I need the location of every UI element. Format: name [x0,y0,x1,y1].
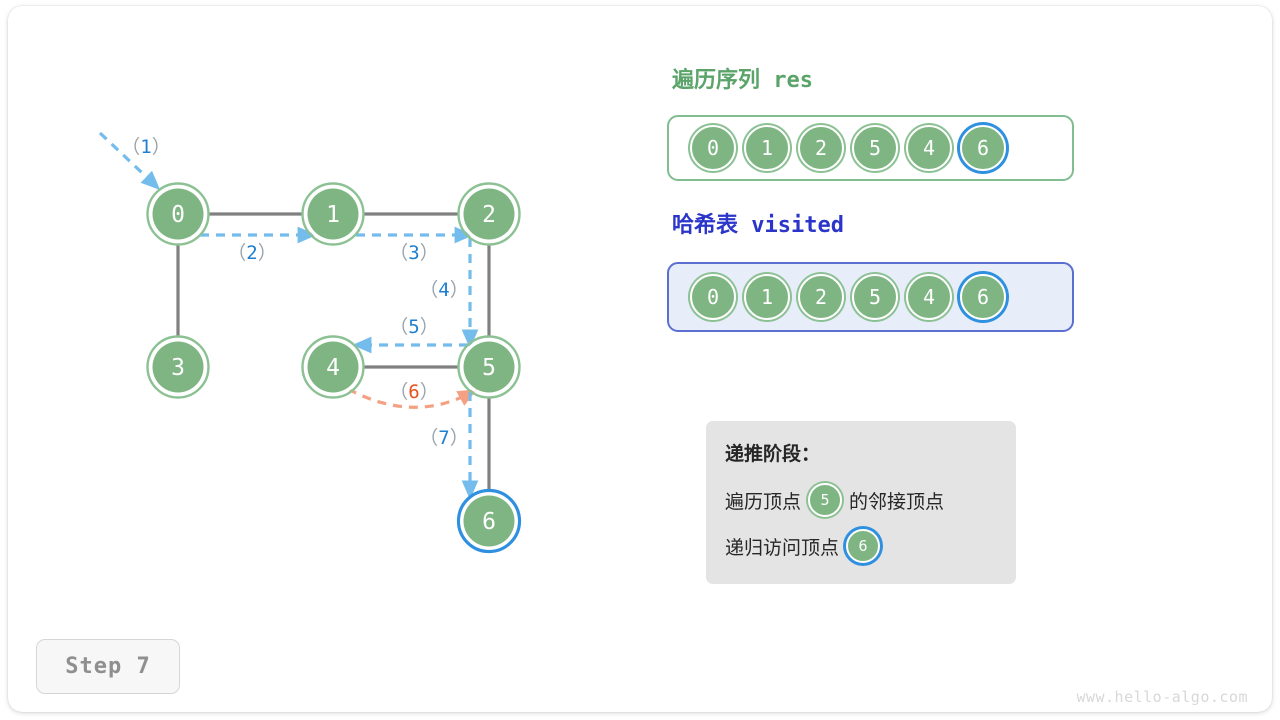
node-label: 4 [326,355,340,381]
visited-cell: 0 [686,274,740,320]
info-line-recurse-prefix: 递归访问顶点 [725,533,839,560]
visited-cell: 2 [794,274,848,320]
step-label-text: （3） [389,242,438,264]
graph-node-5[interactable]: 5 [459,337,520,398]
info-token-vertex-5: 5 [808,483,842,517]
visited-cell: 5 [848,274,902,320]
node-label: 6 [482,509,496,535]
graph-node-4[interactable]: 4 [303,337,364,398]
step-label-7: （7） [419,427,468,449]
step-label-3: （3） [389,242,438,264]
step-label-5: （5） [389,316,438,338]
res-cell: 6 [956,125,1010,171]
step-label-text: （1） [121,136,170,158]
node-label: 2 [482,202,496,228]
res-token-6: 6 [960,125,1006,171]
graph-node-1[interactable]: 1 [303,184,364,245]
step-label-text: （6） [389,381,438,403]
res-token-5: 5 [852,125,898,171]
info-panel: 递推阶段： 遍历顶点 5 的邻接顶点 递归访问顶点 6 [706,421,1016,584]
res-cell: 1 [740,125,794,171]
step-badge: Step 7 [36,639,180,694]
right-panel: 遍历序列 res 012546 哈希表 visited 012546 递推阶段：… [667,0,1267,720]
visited-cell: 4 [902,274,956,320]
visited-token-6: 6 [960,274,1006,320]
res-token-1: 1 [744,125,790,171]
res-title: 遍历序列 res [672,62,813,94]
info-token-vertex-6: 6 [846,529,880,563]
graph-diagram: 0123456 （1）（2）（3）（4）（5）（6）（7） [0,0,640,700]
visited-cell: 1 [740,274,794,320]
res-token-2: 2 [798,125,844,171]
visited-cell: 6 [956,274,1010,320]
graph-node-0[interactable]: 0 [148,184,209,245]
node-label: 0 [171,202,185,228]
visited-token-4: 4 [906,274,952,320]
visited-token-5: 5 [852,274,898,320]
visited-array: 012546 [667,262,1074,332]
graph-nodes: 0123456 [148,184,520,552]
info-line-recurse: 递归访问顶点 6 [725,529,1016,563]
info-line-traverse: 遍历顶点 5 的邻接顶点 [725,483,1016,517]
graph-node-2[interactable]: 2 [459,184,520,245]
step-label-text: （5） [389,316,438,338]
res-array: 012546 [667,115,1074,181]
res-cell: 5 [848,125,902,171]
step-label-2: （2） [227,242,276,264]
res-cell: 2 [794,125,848,171]
step-label-text: （4） [419,279,468,301]
traversal-arrows [100,133,472,494]
graph-node-3[interactable]: 3 [148,337,209,398]
node-label: 5 [482,355,496,381]
res-cell: 0 [686,125,740,171]
res-cell: 4 [902,125,956,171]
step-label-6: （6） [389,381,438,403]
res-token-4: 4 [906,125,952,171]
step-label-1: （1） [121,136,170,158]
visited-token-0: 0 [690,274,736,320]
info-line-traverse-suffix: 的邻接顶点 [849,487,944,514]
diagram-canvas: 0123456 （1）（2）（3）（4）（5）（6）（7） 遍历序列 res 0… [0,0,1280,720]
visited-token-1: 1 [744,274,790,320]
info-panel-title: 递推阶段： [725,439,1016,466]
res-token-0: 0 [690,125,736,171]
step-label-text: （7） [419,427,468,449]
visited-title: 哈希表 visited [672,207,844,239]
node-label: 1 [326,202,340,228]
watermark: www.hello-algo.com [1076,688,1248,706]
step-label-4: （4） [419,279,468,301]
node-label: 3 [171,355,185,381]
step-label-text: （2） [227,242,276,264]
visited-token-2: 2 [798,274,844,320]
info-line-traverse-prefix: 遍历顶点 [725,487,801,514]
graph-node-6[interactable]: 6 [459,491,520,552]
